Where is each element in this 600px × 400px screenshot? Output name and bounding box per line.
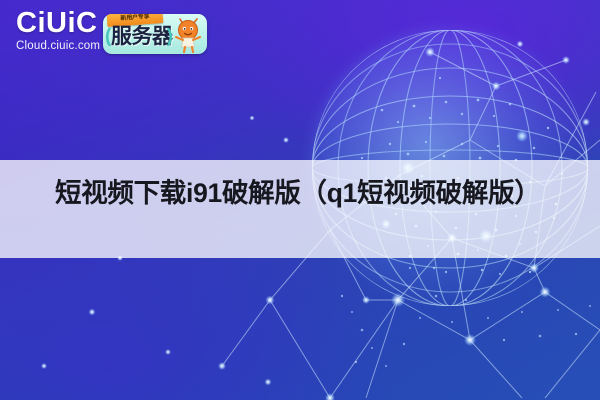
badge-label: 服务器 (111, 25, 173, 49)
orange-mascot-icon (172, 17, 205, 53)
server-badge[interactable]: 新用户专享 ( 服务器 ) (103, 14, 207, 54)
banner-image: 短视频下载i91破解版（q1短视频破解版） CiUiC Cloud.ciuic.… (0, 0, 600, 400)
page-title: 短视频下载i91破解版（q1短视频破解版） (0, 160, 600, 258)
